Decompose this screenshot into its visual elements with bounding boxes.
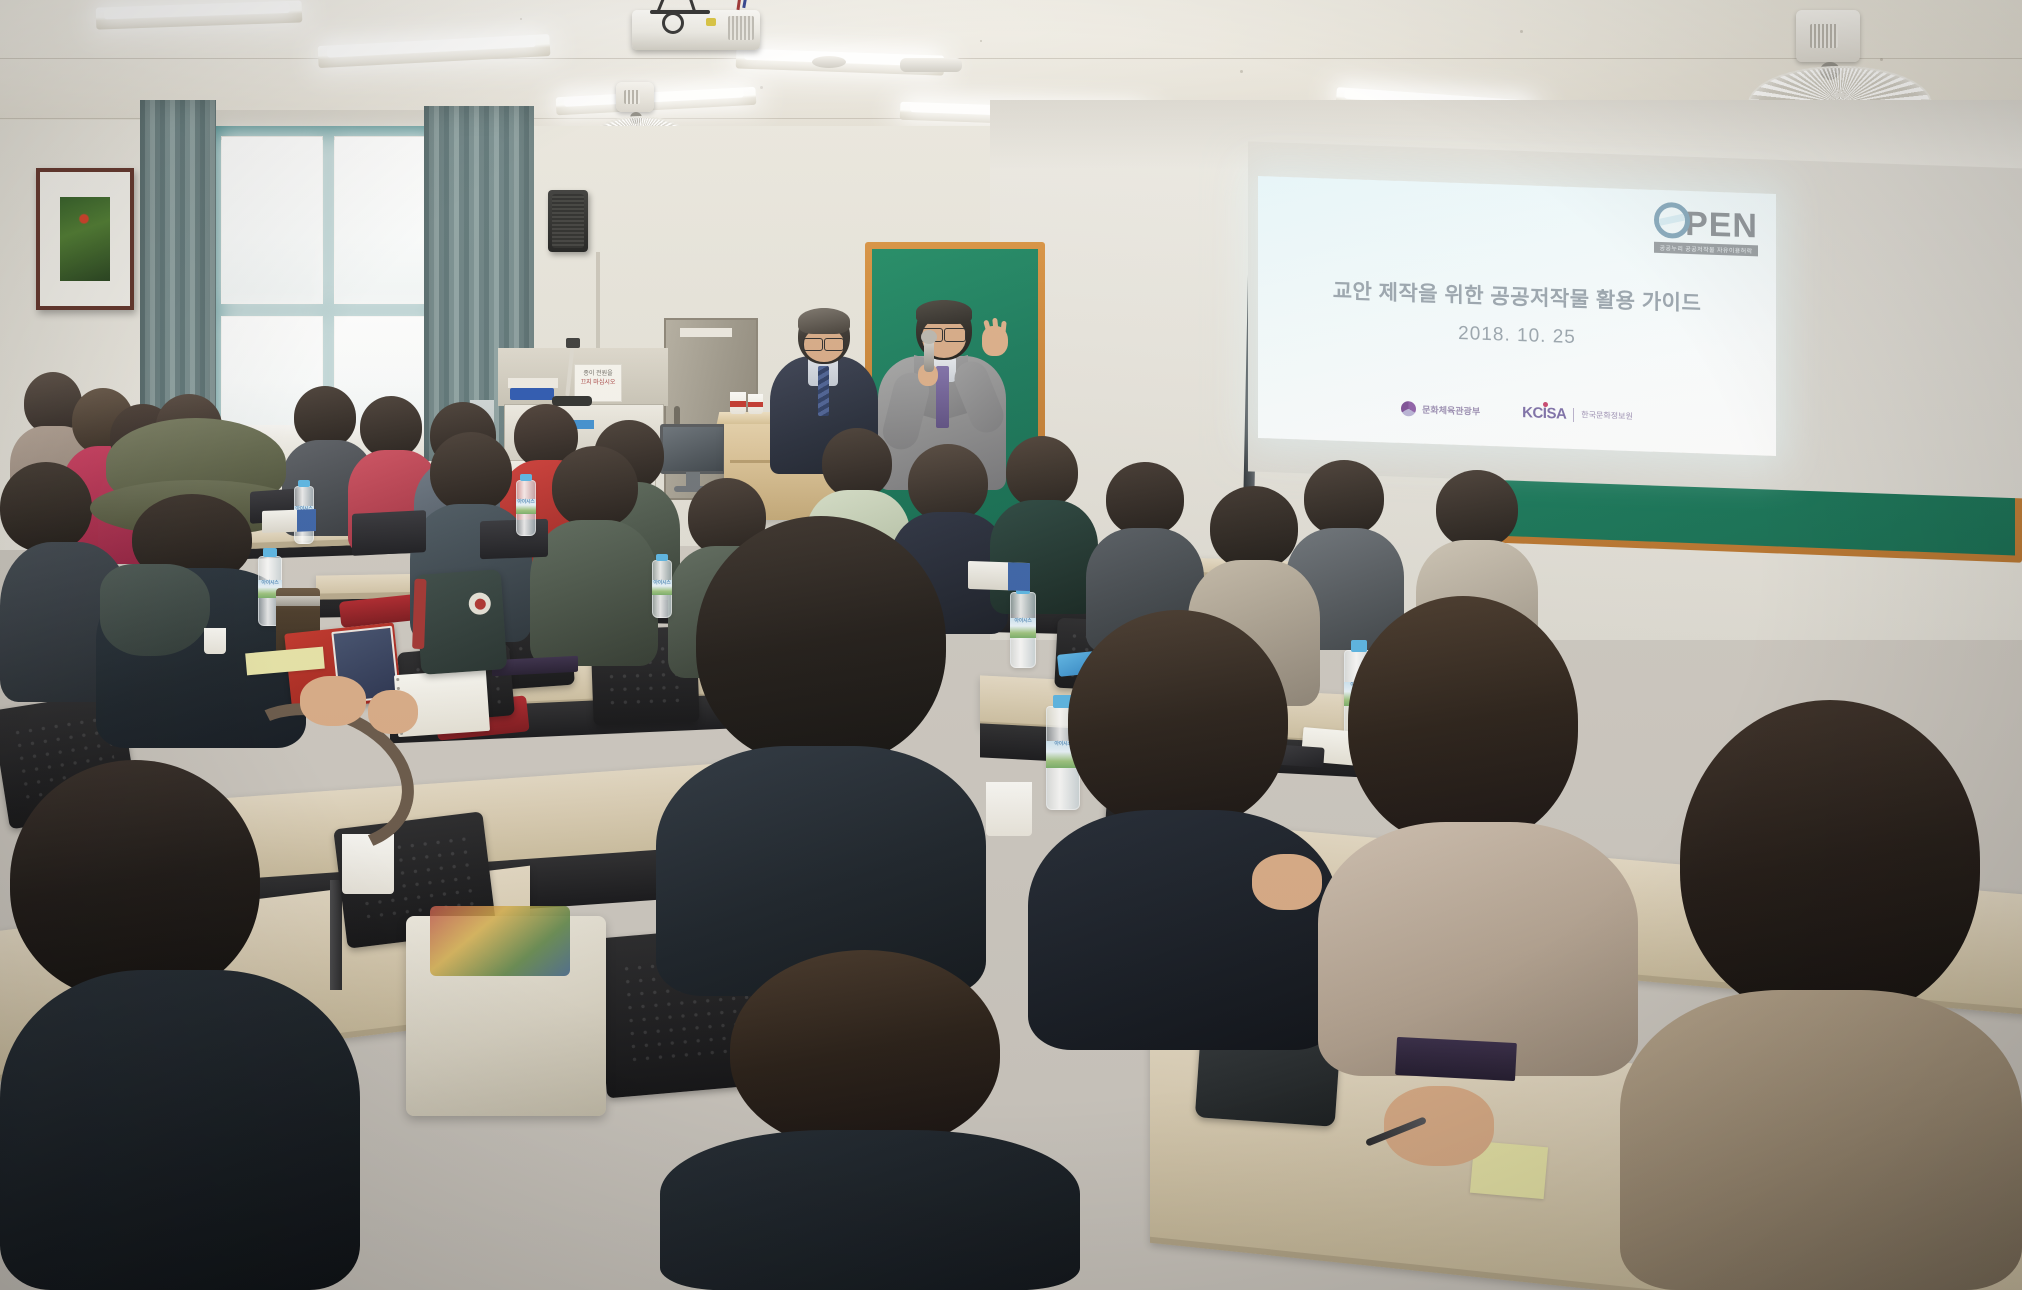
- blue-tray: [510, 388, 554, 400]
- glasses-moderator-2: [824, 338, 844, 351]
- hair-front-speaker: [916, 300, 972, 324]
- seminar-room-photo: 종이 전원을 끄지 마십시오 PEN 공공누리 공공저작물 자유이용허락 교안 …: [0, 0, 2022, 1290]
- audience-person-front-center: [656, 516, 986, 996]
- hair-front: [798, 308, 850, 334]
- audience-person-front-far-right: [1318, 596, 1638, 1076]
- hand-holding-tablet-right: [368, 690, 418, 734]
- logo-ministry-label: 문화체육관광부: [1422, 403, 1480, 418]
- stacked-papers: [508, 378, 558, 388]
- tote-bag-pattern: [430, 906, 570, 976]
- water-bottle-3[interactable]: 아이시스: [516, 480, 536, 536]
- bottle-label-3: 아이시스: [516, 499, 536, 505]
- door-sign: [680, 328, 732, 337]
- scarf: [100, 564, 210, 656]
- audience-person-19: [530, 446, 658, 666]
- fingers-2: [992, 318, 999, 334]
- audience-person-bottom-left: [0, 760, 360, 1290]
- small-notebook-dark: [1395, 1037, 1517, 1081]
- slide-title: 교안 제작을 위한 공공저작물 활용 가이드: [1258, 272, 1776, 320]
- logo-kcisa: KCISA 한국문화정보원: [1522, 404, 1633, 425]
- slide-logos: 문화체육관광부 KCISA 한국문화정보원: [1258, 395, 1776, 430]
- tissue-box-3: [262, 509, 316, 533]
- paper-cup-1[interactable]: [986, 782, 1032, 836]
- logo-kcisa-label: KCISA: [1522, 404, 1566, 423]
- audience-person-bottom-center: [660, 950, 1080, 1290]
- window-pane-top-right: [335, 137, 436, 303]
- slide: PEN 공공누리 공공저작물 자유이용허락 교안 제작을 위한 공공저작물 활용…: [1258, 176, 1776, 456]
- open-logo: PEN 공공누리 공공저작물 자유이용허락: [1654, 202, 1758, 257]
- backpack: [415, 569, 508, 675]
- wall-conduit: [596, 252, 600, 348]
- ceiling-vent: [900, 58, 962, 72]
- bottle-label-2: 아이시스: [258, 580, 282, 586]
- microphone-head: [921, 330, 937, 344]
- taegeuk-swirl-icon: [1401, 401, 1416, 417]
- open-logo-text: PEN: [1685, 205, 1758, 246]
- paper-cup-podium-2: [748, 394, 763, 414]
- glasses-moderator: [803, 338, 823, 351]
- necktie: [818, 366, 829, 416]
- logo-ministry-culture: 문화체육관광부: [1401, 401, 1480, 419]
- audience-person-bottom-right: [1620, 700, 2022, 1290]
- document-camera-head: [566, 338, 580, 348]
- glasses-speaker-2: [944, 328, 966, 342]
- hand-holding-phone: [1252, 854, 1322, 910]
- framed-picture: [36, 168, 134, 310]
- paper-cup-podium-1: [730, 392, 746, 414]
- laptop-3[interactable]: [480, 519, 548, 559]
- hand-holding-tablet-left: [300, 676, 366, 726]
- ceiling-sensor: [812, 56, 846, 68]
- window-pane-top-left: [222, 137, 322, 303]
- logo-kcisa-sub: 한국문화정보원: [1581, 409, 1633, 422]
- av-sign-line1: 종이 전원을: [575, 365, 621, 379]
- open-logo-ring-icon: [1654, 202, 1690, 239]
- window: [210, 126, 448, 426]
- paper-cup-3[interactable]: [204, 628, 226, 654]
- slide-date: 2018. 10. 25: [1258, 316, 1776, 356]
- projector: [632, 0, 760, 54]
- av-sign-line2: 끄지 마십시오: [575, 379, 621, 388]
- wall-speaker: [548, 190, 588, 252]
- laptop-2[interactable]: [352, 510, 426, 556]
- logo-divider: [1573, 407, 1574, 421]
